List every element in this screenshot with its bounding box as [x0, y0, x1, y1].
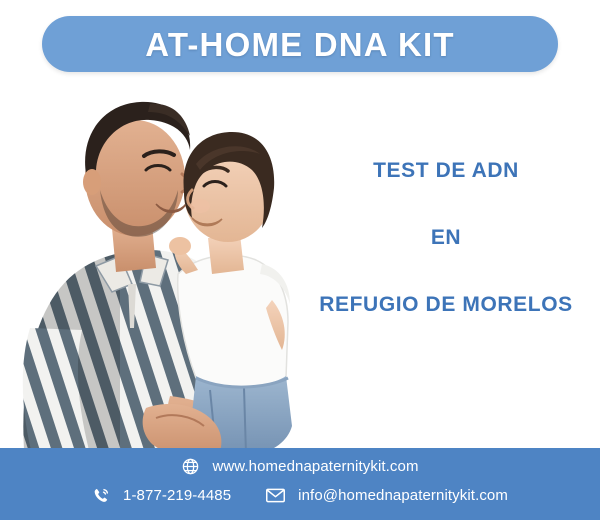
phone-contact[interactable]: 1-877-219-4485 — [92, 486, 231, 505]
headline-line-3: REFUGIO DE MORELOS — [300, 294, 592, 315]
email-contact[interactable]: info@homednapaternitykit.com — [265, 486, 508, 505]
page-title: AT-HOME DNA KIT — [145, 28, 454, 61]
headline-block: TEST DE ADN EN REFUGIO DE MORELOS — [300, 160, 592, 315]
globe-icon — [181, 457, 200, 476]
headline-line-1: TEST DE ADN — [300, 160, 592, 181]
phone-text[interactable]: 1-877-219-4485 — [123, 487, 231, 504]
headline-line-2: EN — [300, 227, 592, 248]
poster-root: AT-HOME DNA KIT — [0, 0, 600, 520]
phone-icon — [92, 486, 111, 505]
footer-website-row: www.homednapaternitykit.com — [0, 457, 600, 476]
email-text[interactable]: info@homednapaternitykit.com — [298, 487, 508, 504]
family-photo-illustration — [0, 78, 320, 462]
footer-contact-row: 1-877-219-4485 info@homednapaternitykit.… — [0, 486, 600, 505]
website-text[interactable]: www.homednapaternitykit.com — [212, 458, 418, 475]
family-photo — [0, 78, 320, 462]
header-banner: AT-HOME DNA KIT — [42, 16, 558, 72]
footer-bar: www.homednapaternitykit.com 1-877-219-44… — [0, 448, 600, 520]
envelope-icon — [265, 486, 286, 505]
